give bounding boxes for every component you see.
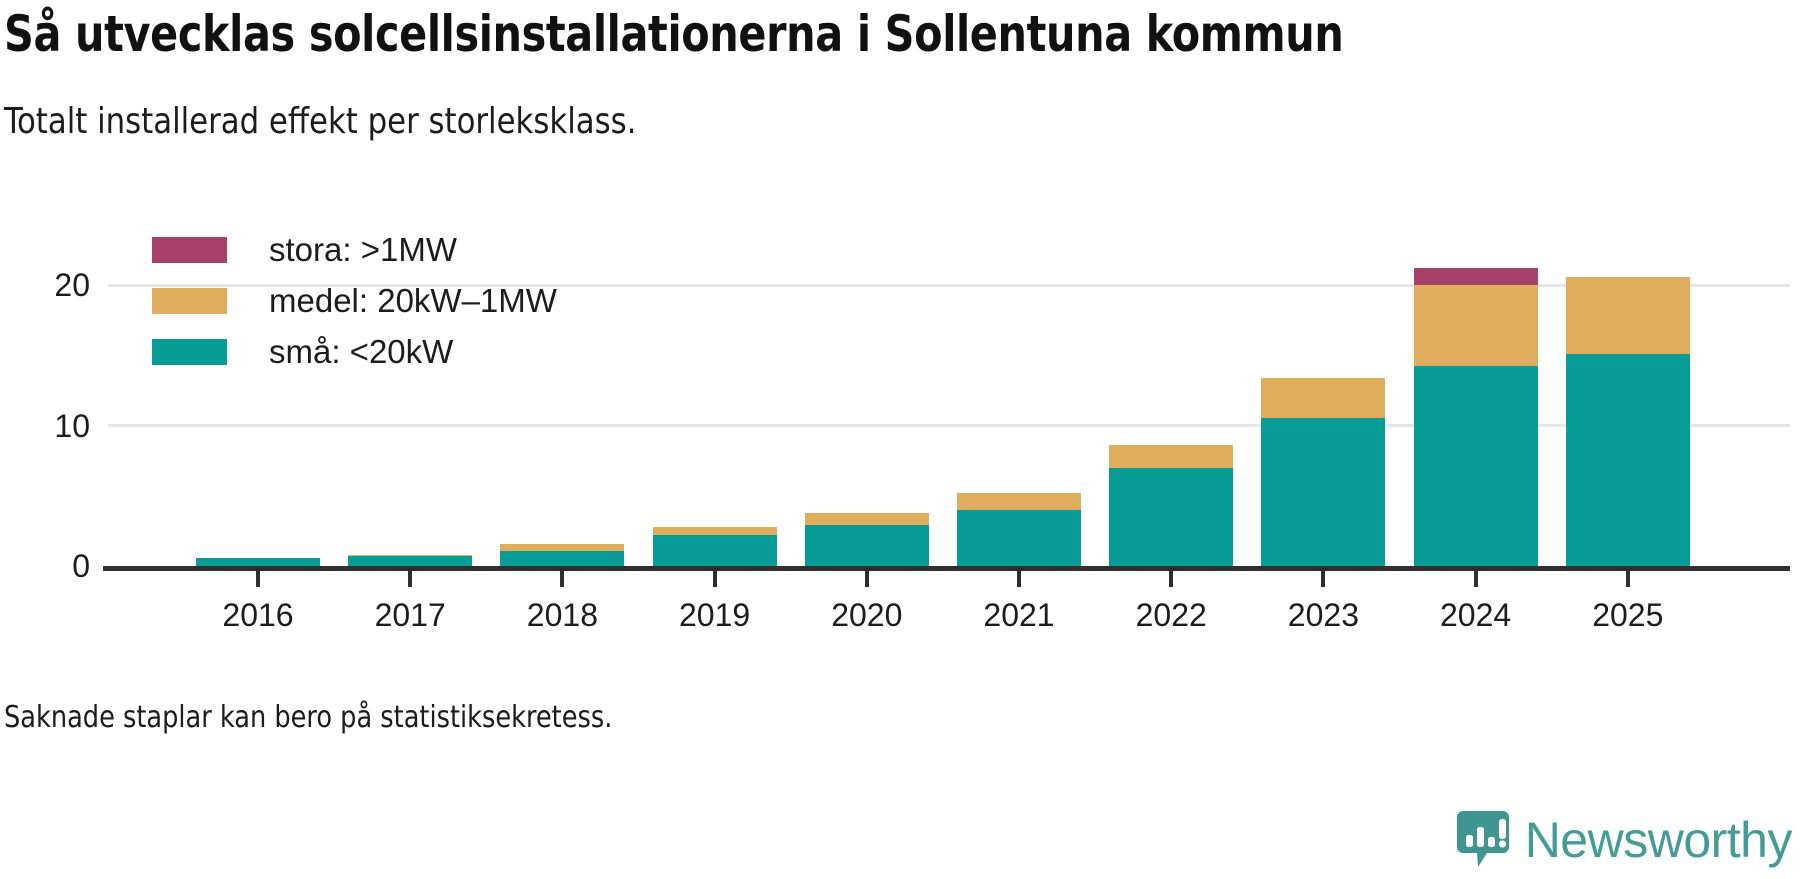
- bar-segment-sma-2020[interactable]: [805, 525, 929, 566]
- bar-segment-stora-2024[interactable]: [1414, 268, 1538, 285]
- bar-2025[interactable]: [1566, 0, 1690, 566]
- bar-segment-sma-2021[interactable]: [957, 510, 1081, 566]
- x-axis-tick-label: 2020: [787, 598, 947, 632]
- bar-segment-sma-2025[interactable]: [1566, 354, 1690, 566]
- y-axis-tick-label: 10: [0, 410, 90, 442]
- legend-item-2[interactable]: små: <20kW: [152, 326, 557, 377]
- bar-2022[interactable]: [1109, 0, 1233, 566]
- bar-segment-sma-2017[interactable]: [348, 555, 472, 566]
- legend-item-label: stora: >1MW: [269, 233, 457, 266]
- chart-footnote: Saknade staplar kan bero på statistiksek…: [4, 700, 612, 736]
- x-axis-tick-2018: [560, 571, 564, 587]
- bar-segment-medel-2025[interactable]: [1566, 277, 1690, 354]
- bar-segment-medel-2019[interactable]: [653, 527, 777, 535]
- bar-2020[interactable]: [805, 0, 929, 566]
- x-axis-tick-label: 2019: [635, 598, 795, 632]
- y-axis-tick-label: 20: [0, 269, 90, 301]
- x-axis-tick-label: 2023: [1243, 598, 1403, 632]
- bar-segment-medel-2024[interactable]: [1414, 285, 1538, 366]
- x-axis-tick-2017: [408, 571, 412, 587]
- x-axis-tick-label: 2021: [939, 598, 1099, 632]
- x-axis-tick-2023: [1321, 571, 1325, 587]
- bar-segment-sma-2023[interactable]: [1261, 418, 1385, 566]
- x-axis-line: [103, 566, 1790, 571]
- legend-swatch-icon: [152, 339, 227, 365]
- bar-2024[interactable]: [1414, 0, 1538, 566]
- bar-chart-plot: 0102020162017201820192020202120222023202…: [0, 0, 1800, 879]
- logo-wordmark: Newsworthy: [1525, 815, 1792, 865]
- legend-swatch-icon: [152, 288, 227, 314]
- bar-2021[interactable]: [957, 0, 1081, 566]
- x-axis-tick-label: 2016: [178, 598, 338, 632]
- x-axis-tick-label: 2022: [1091, 598, 1251, 632]
- x-axis-tick-label: 2017: [330, 598, 490, 632]
- bar-segment-sma-2019[interactable]: [653, 535, 777, 566]
- bar-segment-medel-2018[interactable]: [500, 544, 624, 550]
- x-axis-tick-2019: [713, 571, 717, 587]
- bar-segment-sma-2018[interactable]: [500, 551, 624, 566]
- bar-segment-sma-2024[interactable]: [1414, 366, 1538, 566]
- y-axis-tick-label: 0: [0, 550, 90, 582]
- bar-segment-sma-2022[interactable]: [1109, 468, 1233, 566]
- bar-2023[interactable]: [1261, 0, 1385, 566]
- legend-item-label: små: <20kW: [269, 335, 453, 368]
- x-axis-tick-label: 2018: [482, 598, 642, 632]
- legend-item-0[interactable]: stora: >1MW: [152, 224, 557, 275]
- bar-segment-medel-2020[interactable]: [805, 513, 929, 525]
- bar-segment-medel-2022[interactable]: [1109, 445, 1233, 467]
- x-axis-tick-2024: [1474, 571, 1478, 587]
- newsworthy-logo: Newsworthy: [1455, 809, 1792, 871]
- bar-segment-medel-2017[interactable]: [348, 555, 472, 556]
- x-axis-tick-label: 2025: [1548, 598, 1708, 632]
- x-axis-tick-2025: [1626, 571, 1630, 587]
- speech-bubble-bar-chart-icon: [1455, 809, 1513, 871]
- x-axis-tick-2020: [865, 571, 869, 587]
- bar-2019[interactable]: [653, 0, 777, 566]
- legend-item-label: medel: 20kW–1MW: [269, 284, 557, 317]
- bar-segment-medel-2023[interactable]: [1261, 378, 1385, 419]
- x-axis-tick-2022: [1169, 571, 1173, 587]
- legend-swatch-icon: [152, 237, 227, 263]
- bar-segment-sma-2016[interactable]: [196, 558, 320, 566]
- x-axis-tick-label: 2024: [1396, 598, 1556, 632]
- legend-item-1[interactable]: medel: 20kW–1MW: [152, 275, 557, 326]
- chart-legend: stora: >1MWmedel: 20kW–1MWsmå: <20kW: [152, 224, 557, 377]
- x-axis-tick-2016: [256, 571, 260, 587]
- bar-segment-medel-2021[interactable]: [957, 493, 1081, 510]
- x-axis-tick-2021: [1017, 571, 1021, 587]
